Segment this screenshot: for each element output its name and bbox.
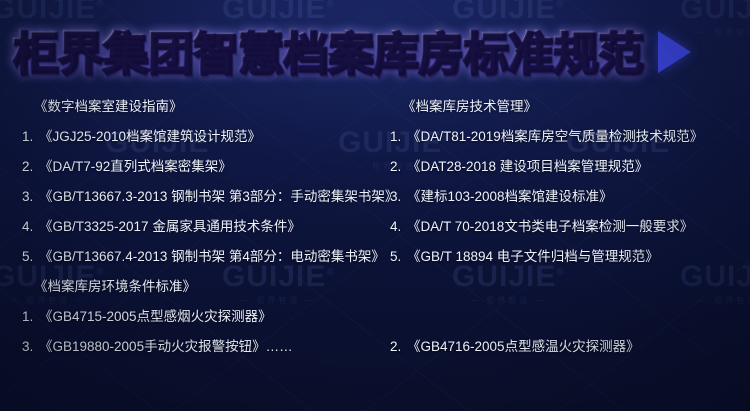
list-item-number: 5. [390, 250, 407, 264]
left-standards-column: 《数字档案室建设指南》1.《JGJ25-2010档案馆建筑设计规范》2.《DA/… [0, 92, 375, 362]
list-item-number: 3. [22, 190, 39, 204]
standards-group-heading: 《档案库房技术管理》 [390, 92, 750, 122]
standards-list-item: 1.《GB4715-2005点型感烟火灾探测器》 [22, 302, 375, 332]
play-triangle-icon [658, 31, 691, 73]
list-item-label: 《GB19880-2005手动火灾报警按钮》…… [39, 340, 293, 354]
list-item-label: 《GB4715-2005点型感烟火灾探测器》 [39, 310, 272, 324]
standards-list-item: 3.《建标103-2008档案馆建设标准》 [390, 182, 750, 212]
spacer-row [390, 272, 750, 302]
list-item-label: 《建标103-2008档案馆建设标准》 [407, 190, 613, 204]
right-standards-column: 《档案库房技术管理》1.《DA/T81-2019档案库房空气质量检测技术规范》2… [375, 92, 750, 362]
list-item-label: 《GB/T 18894 电子文件归档与管理规范》 [407, 250, 659, 264]
standards-list-item: 2.《DA/T7-92直列式档案密集架》 [22, 152, 375, 182]
standards-group-heading: 《数字档案室建设指南》 [22, 92, 375, 122]
list-item-label: 《DA/T81-2019档案库房空气质量检测技术规范》 [407, 130, 703, 144]
list-item-number: 1. [22, 130, 39, 144]
list-item-label: 《GB4716-2005点型感温火灾探测器》 [407, 340, 640, 354]
list-item-number: 4. [390, 220, 407, 234]
list-item-number: 2. [390, 340, 407, 354]
standards-list-item: 5.《GB/T 18894 电子文件归档与管理规范》 [390, 242, 750, 272]
standards-list-item: 1.《DA/T81-2019档案库房空气质量检测技术规范》 [390, 122, 750, 152]
list-item-number: 2. [22, 160, 39, 174]
standards-list-item: 5.《GB/T13667.4-2013 钢制书架 第4部分：电动密集书架》 [22, 242, 375, 272]
list-item-label: 《GB/T3325-2017 金属家具通用技术条件》 [39, 220, 301, 234]
list-item-number: 4. [22, 220, 39, 234]
list-item-label: 《数字档案室建设指南》 [34, 100, 183, 114]
standards-list-item: 4.《DA/T 70-2018文书类电子档案检测一般要求》 [390, 212, 750, 242]
standards-list-item: 2.《GB4716-2005点型感温火灾探测器》 [390, 332, 750, 362]
list-item-number: 2. [390, 160, 407, 174]
standards-columns: 《数字档案室建设指南》1.《JGJ25-2010档案馆建筑设计规范》2.《DA/… [0, 92, 750, 362]
standards-list-item: 1.《JGJ25-2010档案馆建筑设计规范》 [22, 122, 375, 152]
list-item-label: 《JGJ25-2010档案馆建筑设计规范》 [39, 130, 261, 144]
list-item-number: 1. [390, 130, 407, 144]
list-item-label: 《DAT28-2018 建设项目档案管理规范》 [407, 160, 648, 174]
list-item-label: 《DA/T 70-2018文书类电子档案检测一般要求》 [407, 220, 693, 234]
standards-list-item: 3.《GB/T13667.3-2013 钢制书架 第3部分：手动密集架书架》 [22, 182, 375, 212]
list-item-label: 《档案库房技术管理》 [402, 100, 537, 114]
list-item-label: 《GB/T13667.3-2013 钢制书架 第3部分：手动密集架书架》 [39, 190, 398, 204]
registered-mark-icon: ® [556, 0, 564, 10]
list-item-label: 《DA/T7-92直列式档案密集架》 [39, 160, 232, 174]
list-item-number: 3. [22, 340, 39, 354]
slide-title-row: 柜界集团智慧档案库房标准规范 [0, 18, 750, 86]
registered-mark-icon: ® [96, 0, 104, 10]
list-item-number: 3. [390, 190, 407, 204]
standards-list-item: 2.《DAT28-2018 建设项目档案管理规范》 [390, 152, 750, 182]
standards-group-heading: 《档案库房环境条件标准》 [22, 272, 375, 302]
registered-mark-icon: ® [326, 0, 334, 10]
spacer-row [390, 302, 750, 332]
list-item-number: 5. [22, 250, 39, 264]
presentation-slide: GUIJIE® — 柜界智造 — GUIJIE® — 柜界智造 — GUIJIE… [0, 0, 750, 411]
list-item-label: 《GB/T13667.4-2013 钢制书架 第4部分：电动密集书架》 [39, 250, 385, 264]
page-title: 柜界集团智慧档案库房标准规范 [12, 30, 642, 75]
standards-list-item: 4.《GB/T3325-2017 金属家具通用技术条件》 [22, 212, 375, 242]
list-item-label: 《档案库房环境条件标准》 [34, 280, 196, 294]
list-item-number: 1. [22, 310, 39, 324]
standards-list-item: 3.《GB19880-2005手动火灾报警按钮》…… [22, 332, 375, 362]
